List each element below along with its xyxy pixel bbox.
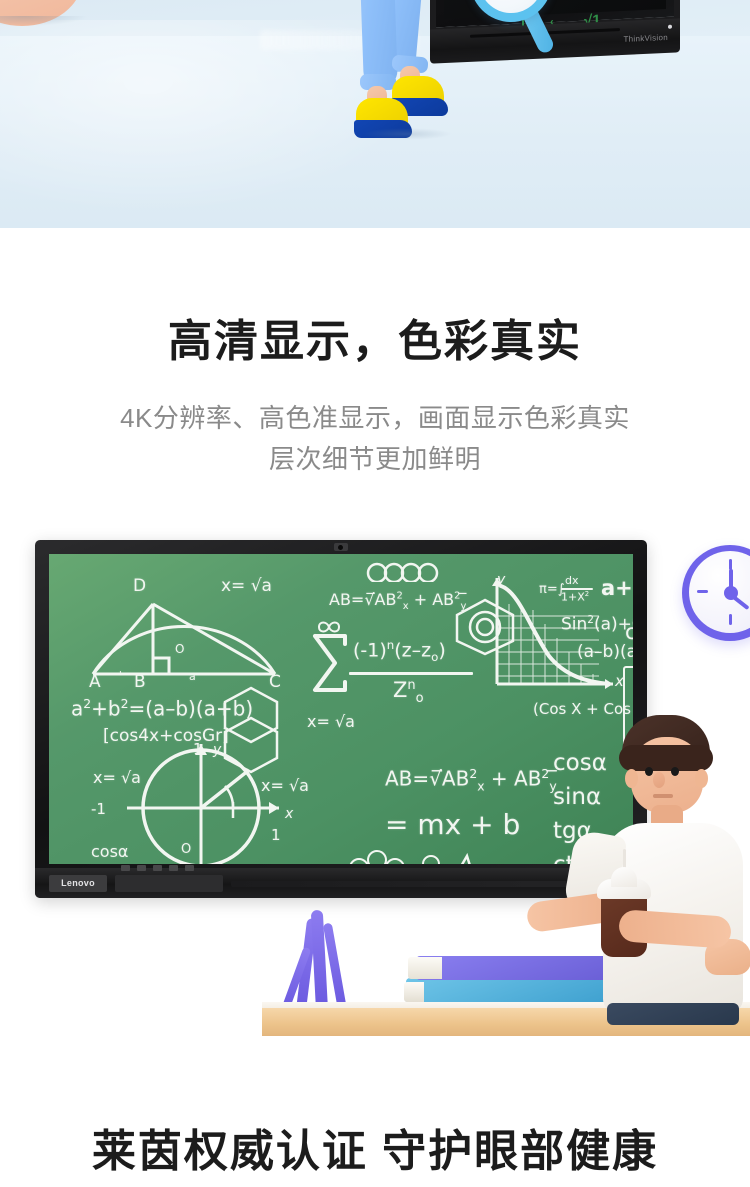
chalk-unit-O: O xyxy=(181,842,191,857)
character-eye-right xyxy=(671,767,679,776)
chalk-unit-1-right: 1 xyxy=(271,826,281,844)
board-button-4[interactable] xyxy=(169,865,178,871)
chalk-series-denom: Zno xyxy=(393,678,424,706)
hero-banner: ‹ √1 ThinkVision xyxy=(0,0,750,228)
chalk-label-B: B xyxy=(134,672,146,692)
chalk-fraction-bar xyxy=(349,672,473,675)
chalk-integral-den: 1+X2 xyxy=(561,590,589,604)
clock-center-pin xyxy=(724,586,738,600)
board-button-3[interactable] xyxy=(153,865,162,871)
chalk-axis-x-2: x xyxy=(285,806,293,822)
product-scene: D A B C O a ' x= √a a2+b2=(a–b)(a+b) [co… xyxy=(0,520,750,1050)
chalk-series-term: (-1)n(z–zo) xyxy=(353,638,446,664)
monitor-led-icon xyxy=(668,25,672,29)
coffee-cup-dome xyxy=(611,867,637,887)
chalk-sin-cos-sq: Sin2(a)+Cos2 xyxy=(561,614,633,635)
chalk-edge-c: c xyxy=(625,620,633,644)
board-bottom-bezel: Lenovo xyxy=(35,868,647,898)
lenovo-logo: Lenovo xyxy=(49,875,107,892)
interactive-whiteboard[interactable]: D A B C O a ' x= √a a2+b2=(a–b)(a+b) [co… xyxy=(35,540,647,898)
chalk-label-O: O xyxy=(175,642,184,656)
character-waistband xyxy=(607,1003,739,1025)
chalk-sqrt-a-2: x= √a xyxy=(307,712,355,731)
board-control-buttons[interactable] xyxy=(121,865,194,871)
bottom-section: 莱茵权威认证 守护眼部健康 xyxy=(0,1128,750,1187)
coil-figure xyxy=(365,562,443,582)
chalk-unit-1-top: 1 xyxy=(193,740,203,758)
book-blue-pages xyxy=(404,982,424,1002)
subtitle-line-2: 层次细节更加鲜明 xyxy=(269,444,481,474)
character-nose xyxy=(653,772,665,788)
board-button-5[interactable] xyxy=(185,865,194,871)
character-illustration xyxy=(575,715,750,1045)
character-ear-left xyxy=(625,769,638,788)
chalk-sqrt-a-4: x= √a xyxy=(93,768,141,787)
board-button-1[interactable] xyxy=(121,865,130,871)
chalk-ab-magnitude-2: AB=√̅AB2x + AB2y̅ xyxy=(385,766,557,794)
board-io-panel xyxy=(115,875,223,892)
book-purple-pages xyxy=(408,957,442,979)
feature-text-block: 高清显示，色彩真实 4K分辨率、高色准显示，画面显示色彩真实 层次细节更加鲜明 xyxy=(0,228,750,479)
chalk-line-equation: = mx + b xyxy=(385,808,520,841)
magnifier-icon xyxy=(470,0,566,70)
character-ear-right xyxy=(695,769,708,788)
chalk-diff-squares: (a–b)(a+b) xyxy=(577,642,633,662)
infinity-symbol xyxy=(315,620,345,634)
character-eye-left xyxy=(645,767,653,776)
chalk-ab-magnitude-1: AB=√̅AB2x + AB2y̅ xyxy=(329,590,466,612)
board-button-2[interactable] xyxy=(137,865,146,871)
chalk-unit-neg1: -1 xyxy=(91,800,106,818)
unit-circle-figure xyxy=(121,742,311,864)
board-camera-icon xyxy=(334,543,348,551)
character-mouth xyxy=(653,794,673,798)
peach-sphere-shadow xyxy=(0,16,88,26)
chalk-integral-num: dx xyxy=(565,574,579,587)
character-legs xyxy=(352,0,472,138)
chalk-label-D: D xyxy=(133,576,146,596)
subtitle-line-1: 4K分辨率、高色准显示，画面显示色彩真实 xyxy=(120,403,630,433)
sigma-symbol xyxy=(311,632,349,694)
chalk-label-a: a xyxy=(189,670,196,683)
chalk-a-plus-b: a+b xyxy=(601,576,633,600)
character-hair-fringe xyxy=(619,745,713,771)
clock-tick-6 xyxy=(729,614,732,625)
page-subtitle: 4K分辨率、高色准显示，画面显示色彩真实 层次细节更加鲜明 xyxy=(0,398,750,479)
shoe-shadow xyxy=(362,128,452,140)
chalk-tick-mark: ' xyxy=(119,670,122,681)
page-title: 高清显示，色彩真实 xyxy=(0,318,750,366)
wall-clock-icon xyxy=(682,545,750,641)
clock-tick-9 xyxy=(697,590,708,593)
board-display[interactable]: D A B C O a ' x= √a a2+b2=(a–b)(a+b) [co… xyxy=(49,554,633,864)
chalk-axis-y-2: y xyxy=(213,742,221,758)
bottom-title: 莱茵权威认证 守护眼部健康 xyxy=(0,1128,750,1176)
chalk-sqrt-a-1: x= √a xyxy=(221,576,272,596)
chalk-axis-y-1: y xyxy=(497,572,505,588)
chalk-cos-alpha-left: cosα xyxy=(91,842,128,861)
chalk-label-A: A xyxy=(89,672,101,692)
monitor-brand-label: ThinkVision xyxy=(623,33,668,44)
chalk-sqrt-a-5: x= √a xyxy=(261,776,309,795)
molecule-doodle xyxy=(345,844,475,864)
